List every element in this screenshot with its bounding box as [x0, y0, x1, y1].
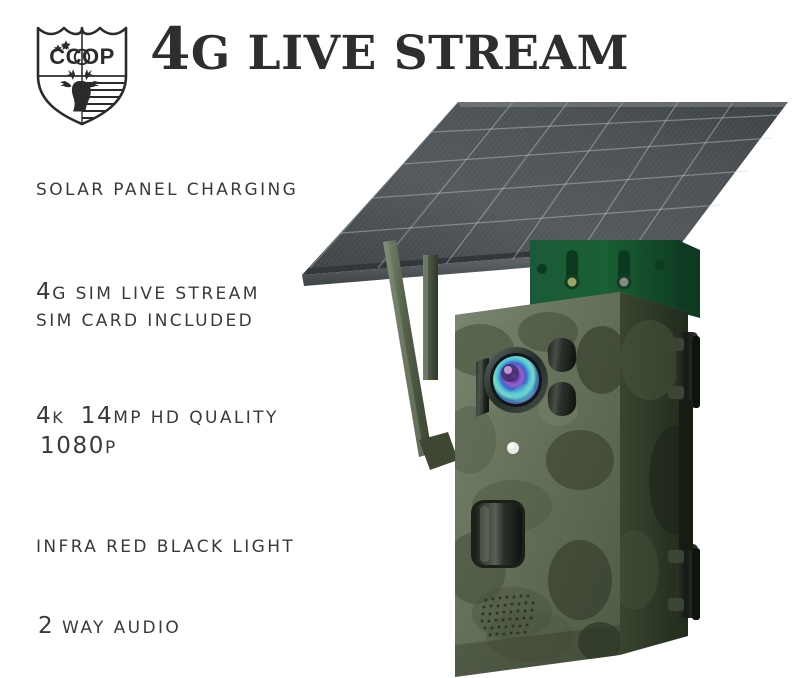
feature-label: P [105, 438, 118, 458]
feature-number-megapixels: 14 [81, 403, 113, 429]
speaker-grille [472, 587, 552, 639]
feature-label: SOLAR PANEL CHARGING [36, 180, 298, 200]
feature-label: INFRA RED BLACK LIGHT [36, 537, 295, 557]
camo-camera-body [444, 292, 701, 677]
feature-label: G SIM LIVE STREAM [52, 284, 260, 304]
feature-number: 4 [36, 279, 52, 305]
bracket-side [678, 240, 700, 318]
feature-4g-sim-live-stream: 4G SIM LIVE STREAM [36, 282, 260, 304]
feature-label: WAY AUDIO [62, 618, 181, 638]
panel-far-edge-highlight [458, 102, 788, 107]
product-image [280, 60, 800, 678]
poster-canvas: CCOP 4G LIVE STREAM SOLAR PANEL CHARGING… [0, 0, 800, 678]
pir-motion-sensor [471, 500, 525, 568]
feature-two-way-audio: 2 WAY AUDIO [38, 616, 181, 638]
bracket-screw-hole [655, 260, 665, 270]
feature-solar-panel-charging: SOLAR PANEL CHARGING [36, 180, 298, 200]
bracket-screw-hole [537, 264, 547, 274]
feature-resolution-1080p: 1080P [40, 436, 118, 458]
status-indicator-led-highlight [508, 443, 514, 449]
camera-lens [484, 347, 548, 413]
feature-sim-card-included: SIM CARD INCLUDED [36, 311, 254, 331]
feature-label: MP HD QUALITY [113, 408, 279, 428]
feature-number: 2 [38, 613, 54, 639]
panel-mount-post [423, 255, 438, 380]
feature-label: SIM CARD INCLUDED [36, 311, 254, 331]
feature-4k-14mp-hd-quality: 4K 14MP HD QUALITY [36, 406, 279, 428]
feature-infra-red-black-light: INFRA RED BLACK LIGHT [36, 537, 295, 557]
feature-unit-k: K [52, 408, 65, 427]
feature-number-resolution: 4 [36, 403, 52, 429]
feature-number: 1080 [40, 433, 105, 459]
